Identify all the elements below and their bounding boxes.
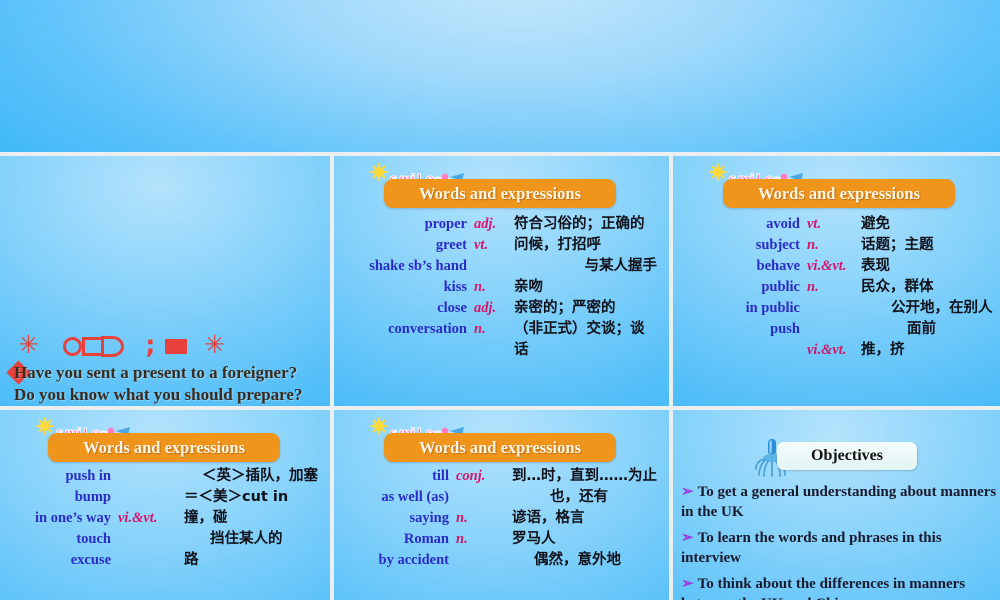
vocab-word: public xyxy=(687,277,807,298)
vocab-pos: adj. xyxy=(474,298,514,319)
vocab-word: subject xyxy=(687,235,807,256)
vocab-pos: vi.&vt. xyxy=(118,508,184,529)
vocab-pos: n. xyxy=(474,277,514,298)
words-title-text: Words and expressions xyxy=(48,433,280,462)
vocab-pos: adj. xyxy=(474,214,514,235)
solid-bar-icon xyxy=(165,339,187,354)
words-title-text: Words and expressions xyxy=(384,433,616,462)
arrow-bullet-icon: ➢ xyxy=(681,530,694,546)
presentation-deck: ✳ ; ✳ Have you sent a present to a forei… xyxy=(0,0,1000,600)
slide-words-4[interactable]: smi Le Words and expressions till conj. … xyxy=(334,410,669,600)
vocab-pos: n. xyxy=(456,508,512,529)
vocab-meaning: 与某人握手 xyxy=(514,256,657,277)
vocab-word: in one’s way xyxy=(10,508,118,529)
objective-text: To think about the differences in manner… xyxy=(681,576,965,600)
circle-outline-icon xyxy=(63,337,82,356)
vocab-pos: n. xyxy=(456,529,512,550)
vocab-meaning: 罗马人 xyxy=(512,529,659,550)
half-ellipse-icon xyxy=(101,336,124,357)
vocab-meaning: 挡住某人的 xyxy=(184,529,320,550)
slide-words-3[interactable]: smi Le Words and expressions push in ＜英＞… xyxy=(0,410,330,600)
words-title-bar: Words and expressions xyxy=(384,179,616,208)
arrow-bullet-icon: ➢ xyxy=(681,576,694,592)
vocab-pos: conj. xyxy=(456,466,512,487)
vocab-word: push xyxy=(687,319,807,340)
vocab-word: in public xyxy=(687,298,807,319)
objective-item: ➢To learn the words and phrases in this … xyxy=(681,528,1000,569)
vocabulary-table: push in ＜英＞插队，加塞 bump ＝＜美＞cut in in one’… xyxy=(10,466,320,571)
vocab-meaning: 话题；主题 xyxy=(861,235,996,256)
objectives-title-text: Objectives xyxy=(777,442,917,470)
slide-lead-in[interactable]: ✳ ; ✳ Have you sent a present to a forei… xyxy=(0,156,330,406)
vocab-meaning: 到…时，直到……为止 xyxy=(512,466,659,487)
objectives-title-box: Objectives xyxy=(777,442,917,470)
slide-words-1[interactable]: smi Le Words and expressions proper adj.… xyxy=(334,156,669,406)
vocab-word: close xyxy=(348,298,474,319)
vocab-word: greet xyxy=(348,235,474,256)
vocab-word: excuse xyxy=(10,550,118,571)
slide-objectives[interactable]: Objectives ➢To get a general understandi… xyxy=(673,410,1000,600)
vocab-meaning: 亲密的；严密的 xyxy=(514,298,657,319)
vocab-word: conversation xyxy=(348,319,474,340)
vocab-meaning: 表现 xyxy=(861,256,996,277)
vocab-meaning: 民众，群体 xyxy=(861,277,996,298)
vocab-pos: n. xyxy=(807,235,861,256)
words-title-bar: Words and expressions xyxy=(48,433,280,462)
objectives-list: ➢To get a general understanding about ma… xyxy=(681,482,1000,600)
top-banner xyxy=(0,0,1000,152)
vocabulary-table: avoid vt. 避免 subject n. 话题；主题 behave vi.… xyxy=(687,214,996,361)
vocab-pos: vt. xyxy=(474,235,514,256)
vocab-meaning: 符合习俗的；正确的 xyxy=(514,214,657,235)
objective-item: ➢To get a general understanding about ma… xyxy=(681,482,1000,523)
vocab-meaning: 偶然，意外地 xyxy=(512,550,659,571)
vocab-meaning: 推，挤 xyxy=(861,340,996,361)
slide-words-2[interactable]: smi Le Words and expressions avoid vt. 避… xyxy=(673,156,1000,406)
vocab-pos: vi.&vt. xyxy=(807,340,861,361)
vocab-meaning: ＝＜美＞cut in xyxy=(184,487,320,508)
vocab-word: saying xyxy=(346,508,456,529)
vocab-word: behave xyxy=(687,256,807,277)
vocab-word: shake sb’s hand xyxy=(348,256,474,277)
vocab-meaning: 问候，打招呼 xyxy=(514,235,657,256)
vocab-word: touch xyxy=(10,529,118,550)
vocab-meaning: ＜英＞插队，加塞 xyxy=(184,466,320,487)
decorative-wingdings-row: ✳ ; ✳ xyxy=(18,332,235,357)
vocab-word: proper xyxy=(348,214,474,235)
vocab-meaning: 也，还有 xyxy=(512,487,659,508)
objective-text: To learn the words and phrases in this i… xyxy=(681,530,942,566)
objective-text: To get a general understanding about man… xyxy=(681,484,996,520)
vocab-word: as well (as) xyxy=(346,487,456,508)
words-title-text: Words and expressions xyxy=(384,179,616,208)
vocab-pos: n. xyxy=(807,277,861,298)
words-title-text: Words and expressions xyxy=(723,179,955,208)
vocab-meaning: 路 xyxy=(184,550,320,571)
vocab-meaning: 公开地，在别人 xyxy=(861,298,996,319)
vocab-word: till xyxy=(346,466,456,487)
vocab-meaning: 谚语，格言 xyxy=(512,508,659,529)
vocabulary-table: till conj. 到…时，直到……为止 as well (as) 也，还有 … xyxy=(346,466,659,571)
words-title-bar: Words and expressions xyxy=(384,433,616,462)
semicolon-glyph: ; xyxy=(145,332,160,357)
vocab-meaning: （非正式）交谈；谈话 xyxy=(514,319,657,361)
vocab-meaning: 亲吻 xyxy=(514,277,657,298)
arrow-bullet-icon: ➢ xyxy=(681,484,694,500)
vocab-word: push in xyxy=(10,466,118,487)
vocabulary-table: proper adj. 符合习俗的；正确的 greet vt. 问候，打招呼 s… xyxy=(348,214,657,361)
vocab-word: kiss xyxy=(348,277,474,298)
vocab-pos: vi.&vt. xyxy=(807,256,861,277)
vocab-meaning: 撞，碰 xyxy=(184,508,320,529)
vocab-pos: vt. xyxy=(807,214,861,235)
vocab-meaning: 避免 xyxy=(861,214,996,235)
vocab-pos: n. xyxy=(474,319,514,340)
vocab-word: by accident xyxy=(346,550,456,571)
words-title-bar: Words and expressions xyxy=(723,179,955,208)
vocab-word: avoid xyxy=(687,214,807,235)
starburst-icon: ✳ xyxy=(18,332,44,357)
vocab-meaning: 面前 xyxy=(861,319,996,340)
lead-in-question: Have you sent a present to a foreigner? … xyxy=(14,362,316,406)
slide-thumbnail-grid: ✳ ; ✳ Have you sent a present to a forei… xyxy=(0,152,1000,600)
objective-item: ➢To think about the differences in manne… xyxy=(681,574,1000,600)
vocab-word: Roman xyxy=(346,529,456,550)
vocab-word: bump xyxy=(10,487,118,508)
starburst-icon-2: ✳ xyxy=(204,332,230,357)
